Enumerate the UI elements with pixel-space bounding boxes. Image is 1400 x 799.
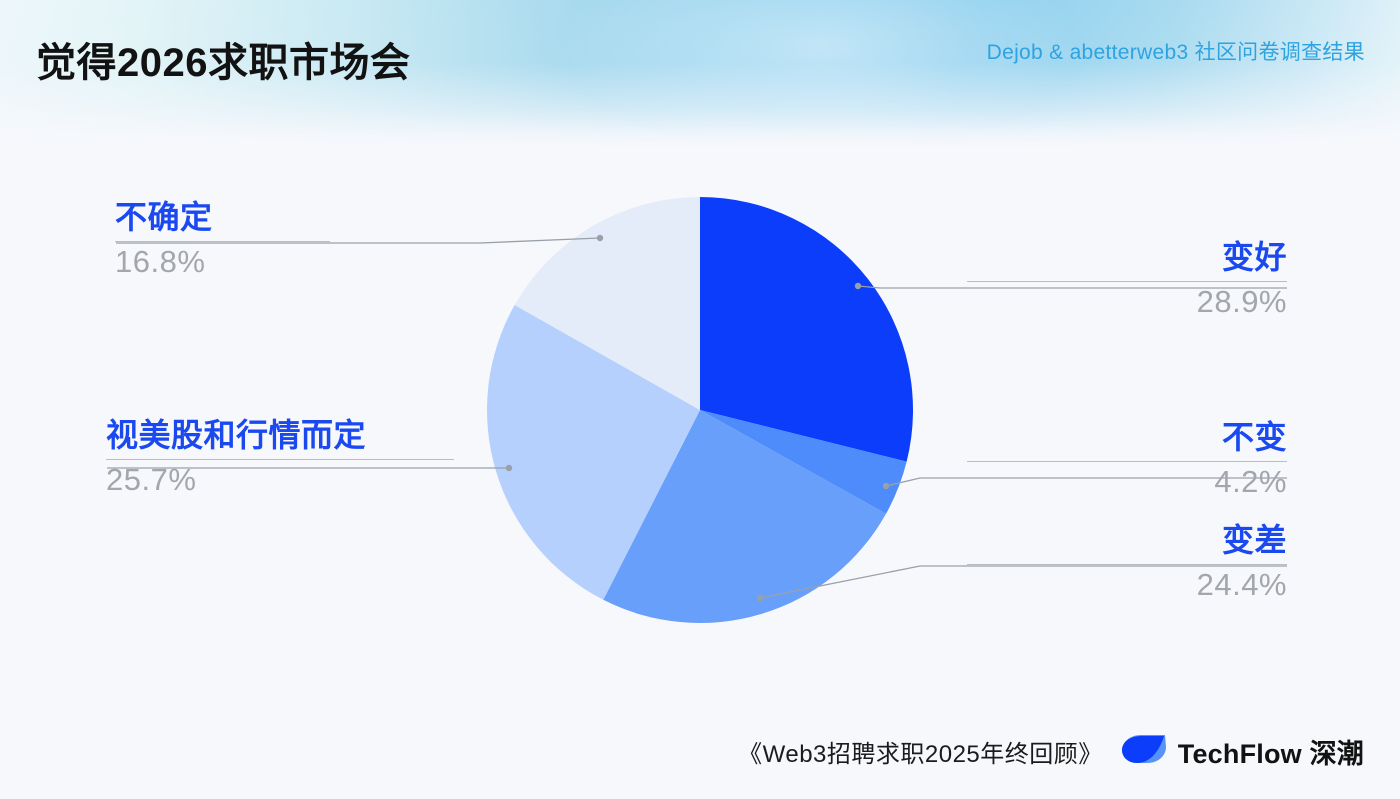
callout-divider <box>106 459 454 460</box>
pie-slice-group <box>487 197 913 623</box>
page-title: 觉得2026求职市场会 <box>36 30 410 88</box>
callout-divider <box>115 241 330 242</box>
pie-slice <box>515 197 700 410</box>
callout-divider <box>967 281 1287 282</box>
brand-name: TechFlow 深潮 <box>1178 732 1364 771</box>
callout-value-text: 28.9% <box>967 284 1287 320</box>
callout-value-text: 16.8% <box>115 244 330 280</box>
leader-dot-bubian <box>883 483 889 489</box>
callout-divider <box>967 564 1287 565</box>
callout-label-text: 变差 <box>967 523 1287 558</box>
pie-callout-shimeigu: 视美股和行情而定 25.7% <box>106 418 454 498</box>
pie-callout-bubian: 不变 4.2% <box>967 420 1287 500</box>
leader-dot-bianhao <box>855 283 861 289</box>
callout-divider <box>967 461 1287 462</box>
callout-label-text: 不变 <box>967 420 1287 455</box>
pie-callout-buquieding: 不确定 16.8% <box>115 200 330 280</box>
techflow-leaf-logo-icon <box>1121 734 1167 769</box>
callout-value-text: 4.2% <box>967 464 1287 500</box>
pie-slice <box>603 410 886 623</box>
leader-dot-buquieding <box>597 235 603 241</box>
pie-slice <box>487 305 700 600</box>
pie-slice <box>700 197 913 462</box>
callout-value-text: 24.4% <box>967 567 1287 603</box>
leader-dot-biancha <box>757 595 763 601</box>
leader-dot-group <box>506 235 889 601</box>
pie-slice <box>700 410 907 514</box>
brand-lockup: TechFlow 深潮 <box>1121 732 1364 771</box>
footer: 《Web3招聘求职2025年终回顾》 TechFlow 深潮 <box>738 732 1364 771</box>
header-glow <box>560 0 1080 160</box>
survey-source-label: Dejob & abetterweb3 社区问卷调查结果 <box>987 36 1365 66</box>
pie-callout-biancha: 变差 24.4% <box>967 523 1287 603</box>
callout-label-text: 不确定 <box>115 200 330 235</box>
report-title: 《Web3招聘求职2025年终回顾》 <box>738 734 1103 769</box>
leader-dot-shimeigu <box>506 465 512 471</box>
callout-label-text: 视美股和行情而定 <box>106 418 454 453</box>
callout-label-text: 变好 <box>967 240 1287 275</box>
pie-callout-bianhao: 变好 28.9% <box>967 240 1287 320</box>
callout-value-text: 25.7% <box>106 462 454 498</box>
